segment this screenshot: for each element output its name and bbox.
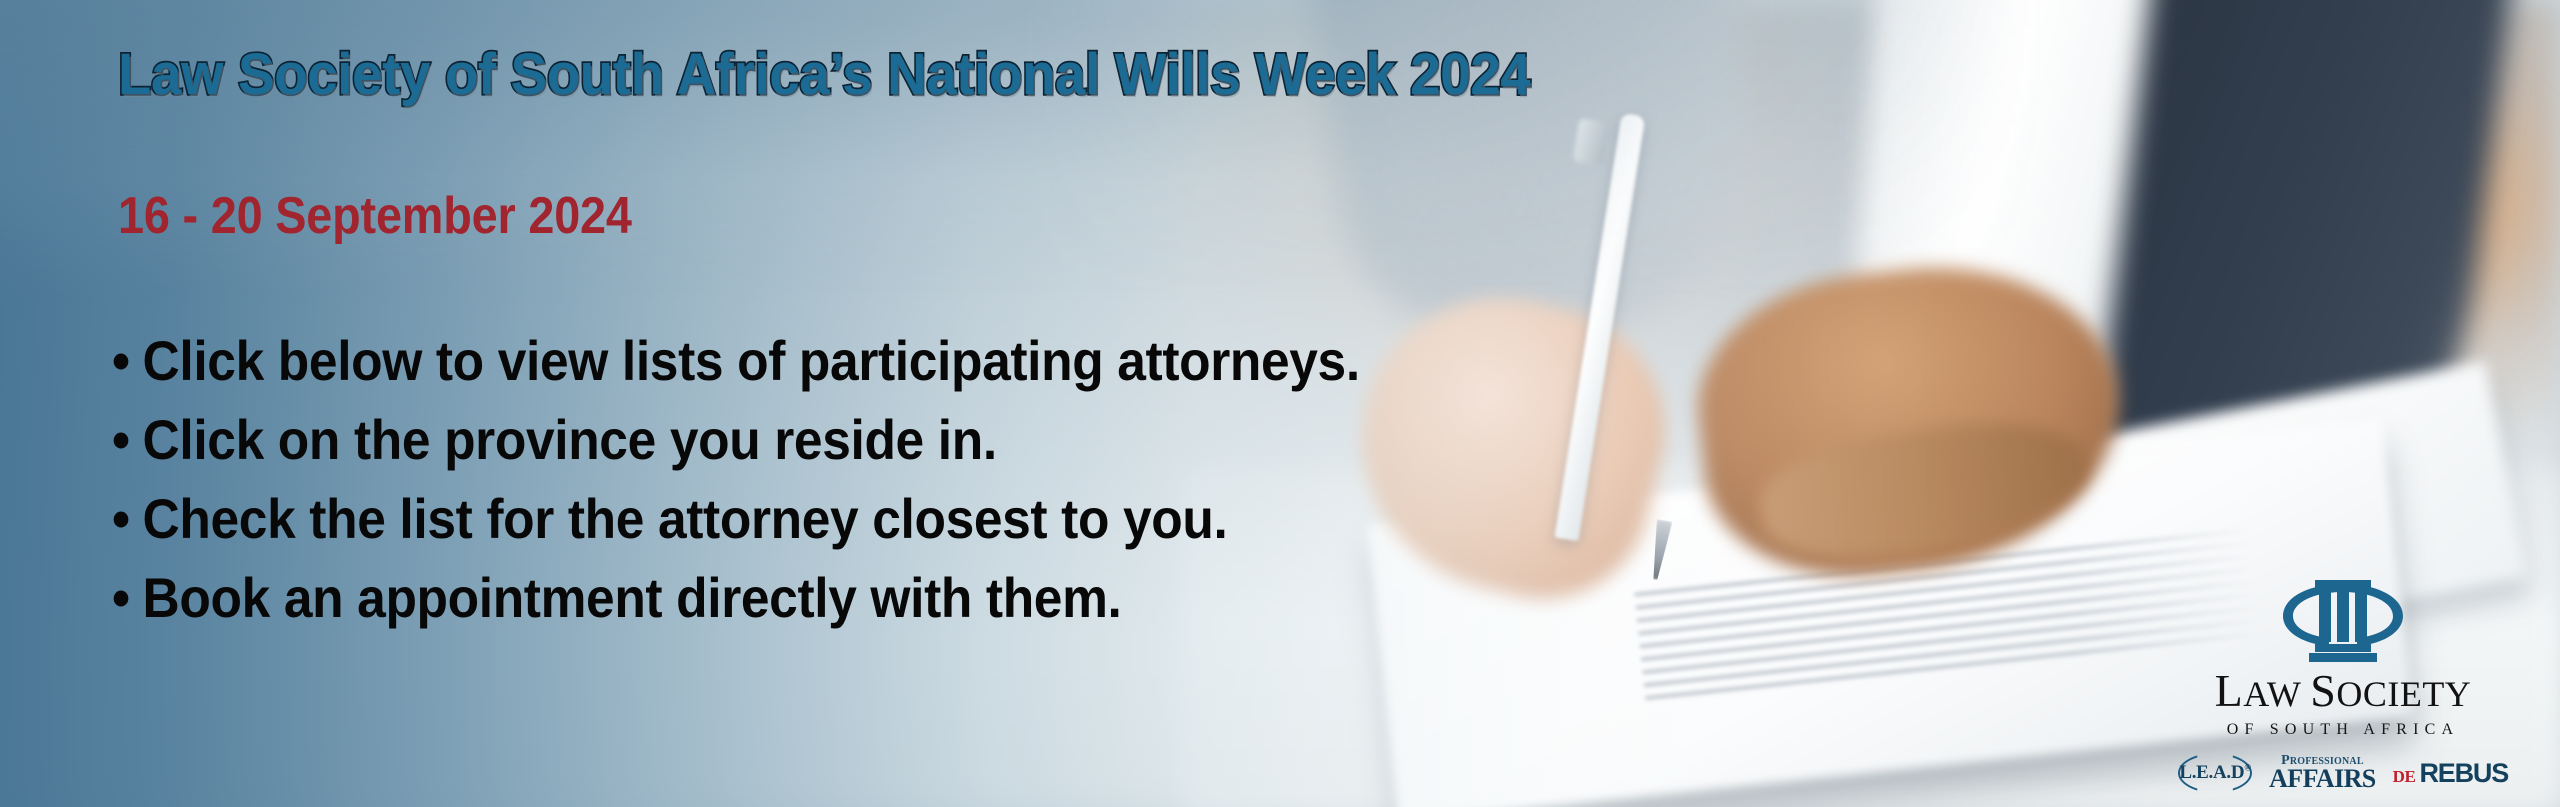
instruction-list: •Click below to view lists of participat… [112,322,1468,638]
banner-content: Law Society of South Africa’s National W… [0,0,2560,807]
pa-bottom-label: AFFAIRS [2269,766,2376,792]
law-society-logo: LAW SOCIETY OF SOUTH AFRICA L.E.A.D® Pro… [2178,574,2508,793]
de-rebus-rebus-label: REBUS [2419,760,2508,787]
logo-wordmark-aw: AW [2243,674,2300,714]
logo-wordmark-l: L [2215,665,2244,716]
partner-logos: L.E.A.D® Professional AFFAIRS DE REBUS [2178,753,2508,793]
lead-logo: L.E.A.D® [2178,753,2252,793]
list-item: •Check the list for the attorney closest… [112,480,1360,559]
de-rebus-logo: DE REBUS [2393,760,2508,787]
bullet-icon: • [112,487,130,550]
banner-headline: Law Society of South Africa’s National W… [118,44,1530,105]
professional-affairs-logo: Professional AFFAIRS [2269,754,2376,792]
banner-date-range: 16 - 20 September 2024 [118,186,632,246]
de-rebus-de-label: DE [2393,768,2416,785]
list-item: •Book an appointment directly with them. [112,559,1360,638]
logo-wordmark: LAW SOCIETY [2178,668,2508,714]
bullet-icon: • [112,408,130,471]
registered-icon: ® [2244,763,2250,773]
law-society-pillar-emblem [2277,574,2409,666]
list-item: •Click on the province you reside in. [112,401,1360,480]
list-item-label: Check the list for the attorney closest … [143,487,1228,550]
lead-label: L.E.A.D® [2179,762,2250,784]
bullet-icon: • [112,566,130,629]
wills-week-banner: Law Society of South Africa’s National W… [0,0,2560,807]
bullet-icon: • [112,329,130,392]
list-item-label: Book an appointment directly with them. [143,566,1122,629]
logo-wordmark-s: S [2310,665,2336,716]
list-item: •Click below to view lists of participat… [112,322,1360,401]
list-item-label: Click below to view lists of participati… [143,329,1360,392]
logo-subtitle: OF SOUTH AFRICA [2178,721,2508,739]
logo-wordmark-ociety: OCIETY [2336,674,2471,714]
list-item-label: Click on the province you reside in. [143,408,997,471]
